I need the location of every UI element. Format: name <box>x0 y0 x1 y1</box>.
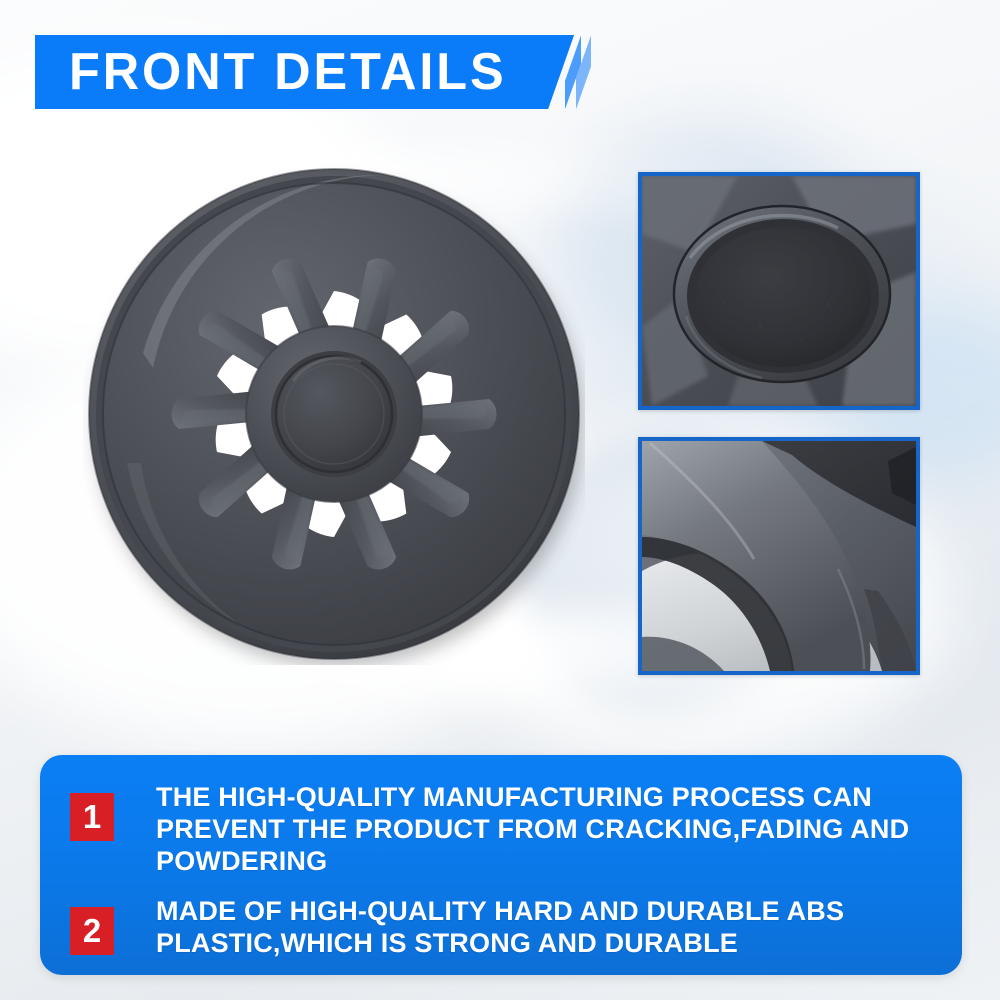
feature-text-1: THE HIGH-QUALITY MANUFACTURING PROCESS C… <box>156 781 934 877</box>
page-title: FRONT DETAILS <box>69 46 507 98</box>
feature-item-1: 1 THE HIGH-QUALITY MANUFACTURING PROCESS… <box>70 781 934 877</box>
feature-list-box: 1 THE HIGH-QUALITY MANUFACTURING PROCESS… <box>40 755 962 975</box>
feature-item-2: 2 MADE OF HIGH-QUALITY HARD AND DURABLE … <box>70 895 934 959</box>
header-banner: FRONT DETAILS <box>35 35 591 109</box>
product-detail-page: FRONT DETAILS <box>0 0 1000 1000</box>
detail-panel-center-cap <box>638 172 920 410</box>
header-banner-main: FRONT DETAILS <box>35 35 574 109</box>
feature-number-badge-1: 1 <box>70 793 114 841</box>
feature-number-badge-2: 2 <box>70 907 114 955</box>
feature-text-2: MADE OF HIGH-QUALITY HARD AND DURABLE AB… <box>156 895 934 959</box>
detail-panel-spoke-edge <box>638 437 920 675</box>
hubcap-product-image <box>83 163 585 665</box>
